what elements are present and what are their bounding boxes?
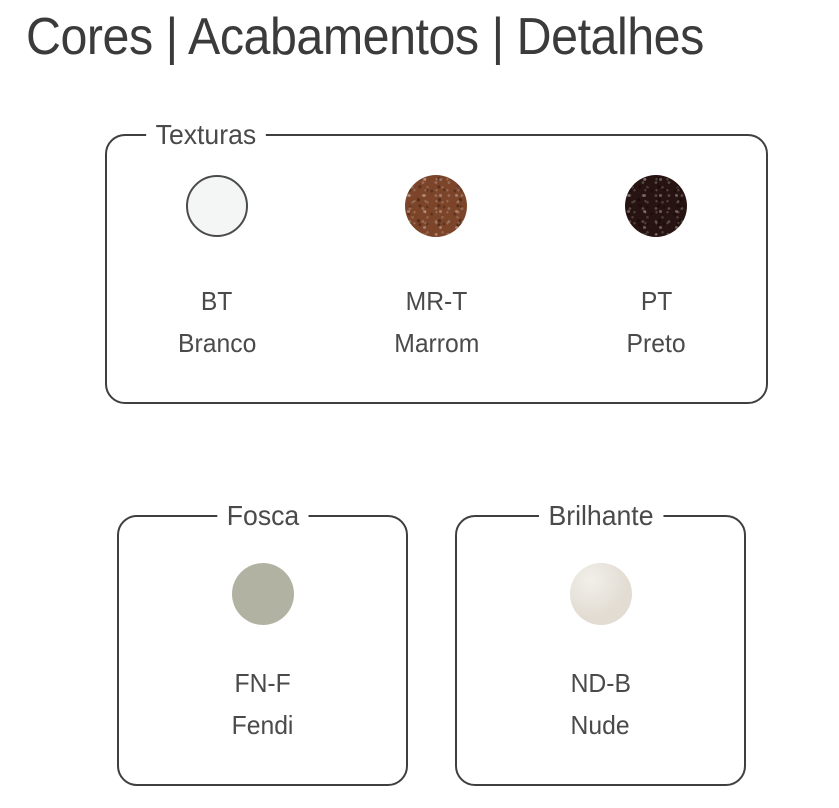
fosca-swatch-group: FN-F Fendi [119, 517, 406, 784]
swatch-code-ndb: ND-B [570, 667, 630, 699]
swatch-code-fnf: FN-F [234, 667, 290, 699]
swatch-name-ndb: Nude [571, 709, 630, 741]
panel-texturas: Texturas BT Branco MR-T Marrom PT Preto [105, 134, 768, 404]
swatch-item-ndb[interactable]: ND-B Nude [511, 563, 691, 741]
texturas-swatch-row: BT Branco MR-T Marrom PT Preto [107, 136, 766, 402]
color-swatch-fendi[interactable] [232, 563, 294, 625]
swatch-name-mrt: Marrom [394, 327, 479, 359]
page-title: Cores | Acabamentos | Detalhes [26, 6, 770, 68]
swatch-name-bt: Branco [178, 327, 256, 359]
color-swatch-branco[interactable] [186, 175, 248, 237]
swatch-item-mrt[interactable]: MR-T Marrom [346, 175, 526, 359]
color-swatch-preto[interactable] [625, 175, 687, 237]
panel-brilhante: Brilhante ND-B Nude [455, 515, 746, 786]
color-swatch-marrom[interactable] [405, 175, 467, 237]
swatch-name-pt: Preto [627, 327, 686, 359]
color-swatch-nude[interactable] [570, 563, 632, 625]
swatch-item-pt[interactable]: PT Preto [566, 175, 746, 359]
swatch-code-bt: BT [201, 285, 233, 317]
swatch-name-fnf: Fendi [232, 709, 294, 741]
brilhante-swatch-group: ND-B Nude [457, 517, 744, 784]
swatch-code-pt: PT [640, 285, 672, 317]
swatch-code-mrt: MR-T [406, 285, 468, 317]
swatch-item-fnf[interactable]: FN-F Fendi [173, 563, 353, 741]
swatch-item-bt[interactable]: BT Branco [127, 175, 307, 359]
panel-fosca: Fosca FN-F Fendi [117, 515, 408, 786]
